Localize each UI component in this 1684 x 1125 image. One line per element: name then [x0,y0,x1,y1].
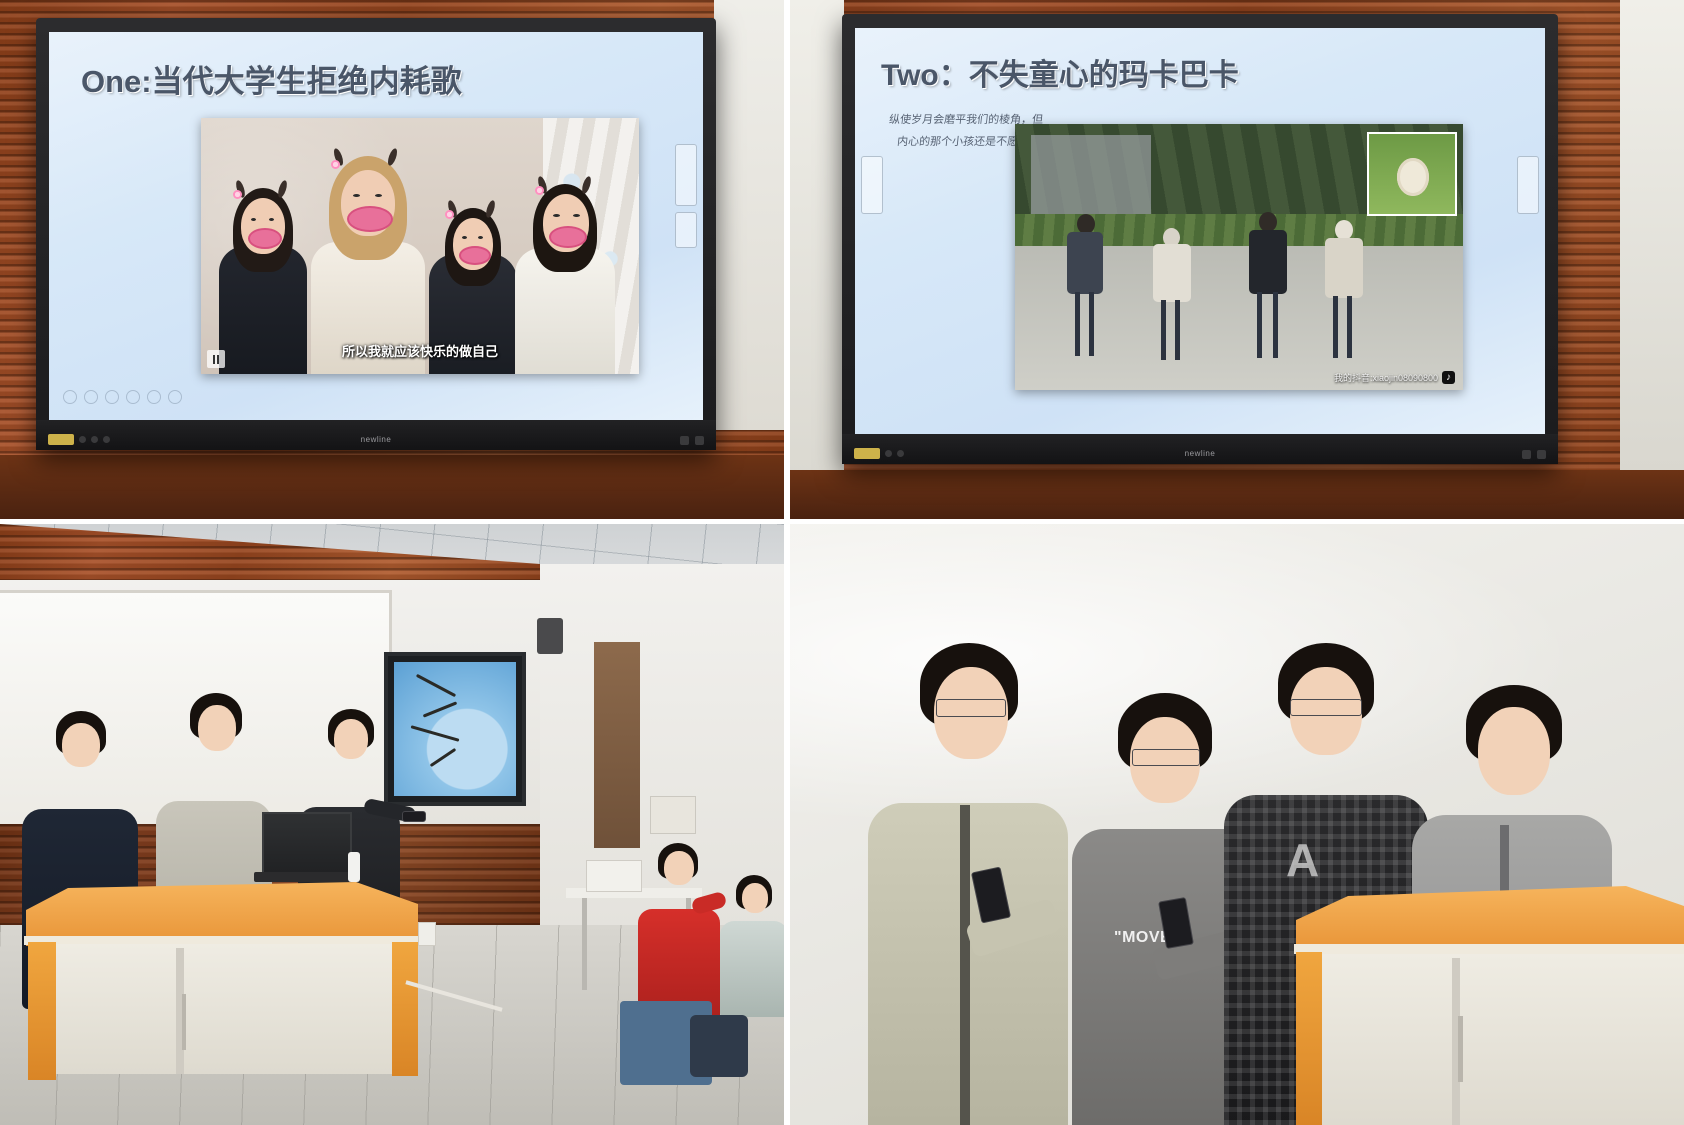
building [1031,135,1151,215]
lectern-edge-right [1294,944,1684,954]
panel-top-right: Two：不失童心的玛卡巴卡 纵使岁月会磨平我们的棱角，但 内心的那个小孩还是不愿… [790,0,1684,519]
microphone [402,811,426,822]
slide-two-title: Two：不失童心的玛卡巴卡 [881,50,1239,94]
source-icon[interactable] [103,436,110,443]
street-person-1 [1059,214,1111,374]
lectern-side-right [1296,952,1322,1125]
jacket-zipper [960,805,970,1125]
pen-icon[interactable] [63,390,77,404]
shape-icon[interactable] [105,390,119,404]
lectern-body [46,944,402,1074]
hdmi-port-icon-right[interactable] [1537,450,1546,459]
wall-socket [418,922,436,946]
watermark-text: 我的抖音:xiaojin08090800 [1334,371,1438,384]
video-watermark: 我的抖音:xiaojin08090800 [1334,371,1455,384]
slide-toolbar[interactable] [63,390,182,404]
video-photo-four-girls: 所以我就应该快乐的做自己 [201,118,639,374]
usb-port-icon-right[interactable] [1522,450,1531,459]
sheep-figure [1397,158,1430,196]
side-tool-panel-right[interactable] [861,156,883,214]
brand-sticker-right [854,448,880,459]
slide-two-video[interactable]: 我的抖音:xiaojin08090800 [1015,124,1463,390]
laptop-keyboard[interactable] [254,872,358,882]
seam-horizontal [0,519,1684,524]
shelf-box [650,796,696,834]
brand-sticker [48,434,74,445]
lower-wall-right [790,470,1684,519]
side-tool-panel[interactable] [675,144,697,206]
power-icon-right[interactable] [885,450,892,457]
display-controls-left[interactable] [48,434,110,445]
lectern-side-2 [392,942,418,1076]
person-2 [309,144,427,374]
wall-panel [714,0,784,430]
shirt-logo-letter: A [1286,833,1320,887]
wall-panel-right-2 [1620,0,1684,470]
display-screen-right[interactable]: Two：不失童心的玛卡巴卡 纵使岁月会磨平我们的棱角，但 内心的那个小孩还是不愿… [855,28,1545,434]
side-tool-panel-right-2[interactable] [1517,156,1539,214]
group-student-1 [864,625,1074,1125]
ceiling-speaker [537,618,563,654]
street-person-2 [1143,224,1199,374]
display-brand-right: newline [1185,449,1216,458]
backpack [690,1015,748,1077]
sanitizer-bottle [348,852,360,882]
panel-top-left: One:当代大学生拒绝内耗歌 [0,0,784,519]
display-image-tree-sky [394,662,516,796]
lectern-side [28,942,56,1080]
volume-icon-right[interactable] [897,450,904,457]
hdmi-port-icon[interactable] [695,436,704,445]
lectern-body-right [1314,954,1684,1125]
zoom-out-icon[interactable] [168,390,182,404]
tiktok-icon [1442,371,1455,384]
display-controls-right[interactable] [854,448,904,459]
smart-display-left[interactable]: One:当代大学生拒绝内耗歌 [36,18,716,450]
display-brand-left: newline [361,435,392,444]
usb-port-icon[interactable] [680,436,689,445]
side-tool-panel-2[interactable] [675,212,697,248]
street-person-4 [1315,218,1371,374]
zoom-in-icon[interactable] [147,390,161,404]
panel-bottom-right: "MOVE" A [790,524,1684,1125]
display-bezel-left: newline [36,420,716,450]
video-subtitle: 所以我就应该快乐的做自己 [201,341,639,360]
street-person-3 [1241,212,1295,374]
photo-collage: One:当代大学生拒绝内耗歌 [0,0,1684,1125]
slide-one-title: One:当代大学生拒绝内耗歌 [81,56,462,101]
door[interactable] [594,642,640,848]
glasses-3 [1290,699,1362,716]
glasses [936,699,1006,717]
student-teal-jacket [716,867,784,1017]
panel-bottom-left [0,524,784,1125]
video-photo-street: 我的抖音:xiaojin08090800 [1015,124,1463,390]
lower-wall [0,455,784,519]
smart-display-right[interactable]: Two：不失童心的玛卡巴卡 纵使岁月会磨平我们的棱角，但 内心的那个小孩还是不愿… [842,14,1558,464]
slide-two: Two：不失童心的玛卡巴卡 纵使岁月会磨平我们的棱角，但 内心的那个小孩还是不愿… [855,28,1545,434]
lectern-handle[interactable] [182,994,186,1050]
display-ports-left[interactable] [680,436,704,445]
classroom-display[interactable] [384,652,526,806]
eraser-icon[interactable] [84,390,98,404]
display-bezel-right: newline [842,434,1558,464]
slide-one: One:当代大学生拒绝内耗歌 [49,32,703,420]
desk-leg-1 [582,898,587,990]
inset-video-thumbnail[interactable] [1367,132,1457,216]
seam-vertical [784,0,790,1125]
slide-one-video[interactable]: 所以我就应该快乐的做自己 [201,118,639,374]
volume-icon[interactable] [91,436,98,443]
glasses-2 [1132,749,1200,766]
power-icon[interactable] [79,436,86,443]
display-ports-right[interactable] [1522,450,1546,459]
pause-icon[interactable] [207,350,225,368]
lectern-top-right [1296,886,1684,952]
laptop-screen[interactable] [262,812,352,878]
lectern-handle-right[interactable] [1458,1016,1463,1082]
display-screen-left[interactable]: One:当代大学生拒绝内耗歌 [49,32,703,420]
select-icon[interactable] [126,390,140,404]
wall-panel-right [790,0,844,519]
